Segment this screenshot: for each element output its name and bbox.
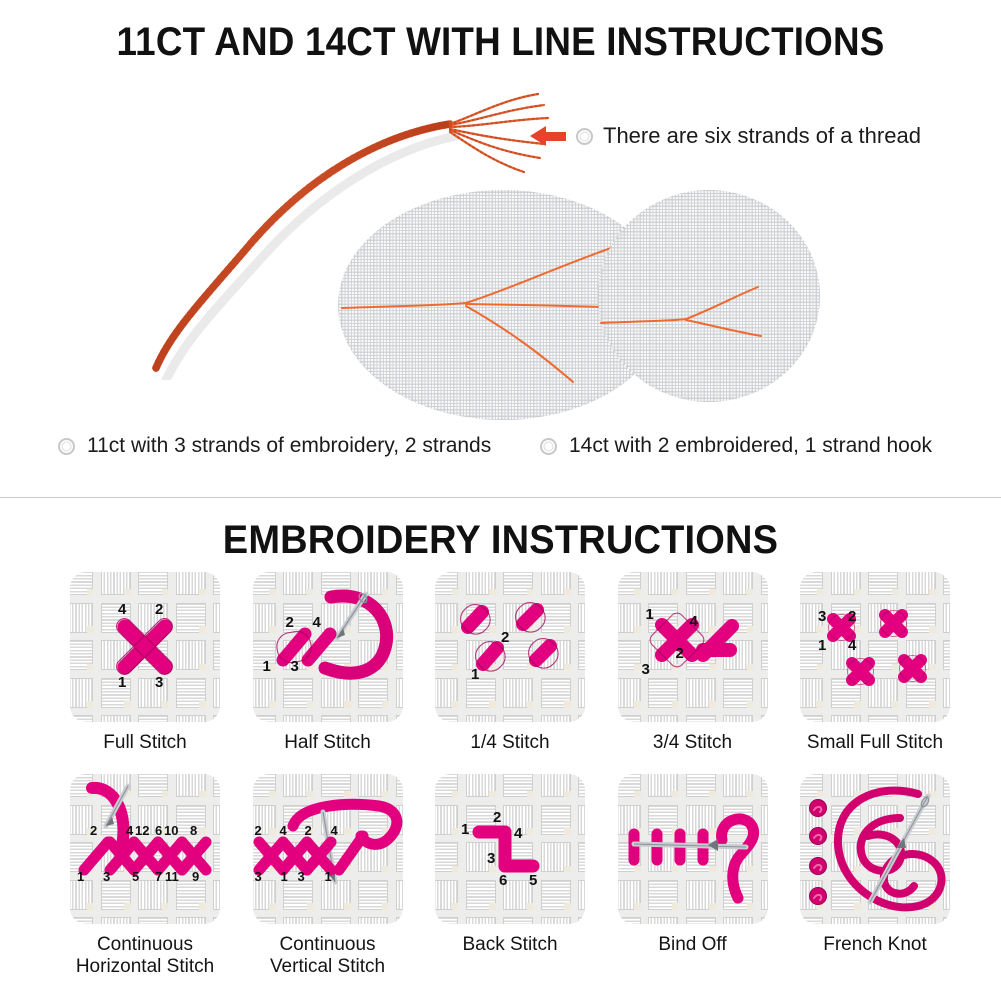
stitch-number: 2 bbox=[155, 602, 163, 617]
stitch-number: 4 bbox=[280, 824, 287, 837]
stitch-number: 9 bbox=[192, 870, 199, 883]
stitch-strokes bbox=[70, 774, 220, 924]
stitch-row-1: 4 2 1 3 Full Stitch bbox=[70, 572, 950, 754]
stitch-caption-french-knot: French Knot bbox=[780, 934, 970, 956]
stitch-diagram-continuous-horizontal-stitch: 2 4 12 6 10 8 1 3 5 7 11 9 bbox=[70, 774, 220, 924]
stitch-number: 4 bbox=[126, 824, 133, 837]
stitch-number: 1 bbox=[461, 822, 469, 837]
page-title-embroidery: EMBROIDERY INSTRUCTIONS bbox=[25, 518, 976, 563]
stitch-diagram-full-stitch: 4 2 1 3 bbox=[70, 572, 220, 722]
stitch-strokes bbox=[618, 572, 768, 722]
stitch-cell-three-quarter-stitch[interactable]: 1 4 2 3 3/4 Stitch bbox=[618, 572, 768, 754]
stitch-strokes bbox=[435, 572, 585, 722]
stitch-number: 3 bbox=[103, 870, 110, 883]
stitch-caption-bind-off: Bind Off bbox=[598, 934, 788, 956]
page-title-thread: 11CT AND 14CT WITH LINE INSTRUCTIONS bbox=[40, 20, 961, 65]
six-strands-label: There are six strands of a thread bbox=[603, 123, 921, 149]
stitch-row-2: 2 4 12 6 10 8 1 3 5 7 11 9 ContinuousHor… bbox=[70, 774, 950, 979]
stitch-number: 3 bbox=[642, 662, 650, 677]
stitch-number: 2 bbox=[90, 824, 97, 837]
stitch-cell-back-stitch[interactable]: 1 2 4 3 6 5 Back Stitch bbox=[435, 774, 585, 979]
stitch-number: 4 bbox=[331, 824, 338, 837]
stitch-caption-small-full-stitch: Small Full Stitch bbox=[788, 732, 963, 754]
stitch-number: 5 bbox=[529, 873, 537, 888]
stitch-cell-continuous-vertical-stitch[interactable]: 2 4 2 4 3 1 3 1 ContinuousVertical Stitc… bbox=[253, 774, 403, 979]
stitch-caption-three-quarter-stitch: 3/4 Stitch bbox=[605, 732, 780, 754]
stitch-caption-continuous-horizontal-stitch: ContinuousHorizontal Stitch bbox=[50, 934, 240, 979]
stitch-number: 2 bbox=[848, 609, 856, 624]
stitch-diagram-three-quarter-stitch: 1 4 2 3 bbox=[618, 572, 768, 722]
stitch-number: 4 bbox=[313, 615, 321, 630]
stitch-number: 1 bbox=[263, 659, 271, 674]
stitch-number: 1 bbox=[325, 870, 332, 883]
stitch-number: 1 bbox=[281, 870, 288, 883]
stitch-strokes bbox=[800, 774, 950, 924]
stitch-number: 7 bbox=[155, 870, 162, 883]
stitch-grid: 4 2 1 3 Full Stitch bbox=[0, 572, 1001, 992]
stitch-number: 4 bbox=[118, 602, 126, 617]
stitch-number: 4 bbox=[514, 826, 522, 841]
stitch-number: 1 bbox=[77, 870, 84, 883]
stitch-caption-full-stitch: Full Stitch bbox=[58, 732, 233, 754]
stitch-diagram-french-knot bbox=[800, 774, 950, 924]
stitch-cell-continuous-horizontal-stitch[interactable]: 2 4 12 6 10 8 1 3 5 7 11 9 ContinuousHor… bbox=[70, 774, 220, 979]
stitch-number: 1 bbox=[646, 607, 654, 622]
ring-bullet-icon bbox=[58, 438, 75, 455]
ring-bullet-icon bbox=[540, 438, 557, 455]
thread-instructions-section: 11CT AND 14CT WITH LINE INSTRUCTIONS bbox=[0, 0, 1001, 497]
stitch-number: 2 bbox=[493, 810, 501, 825]
stitch-diagram-bind-off bbox=[618, 774, 768, 924]
stitch-cell-quarter-stitch[interactable]: 2 1 1/4 Stitch bbox=[435, 572, 585, 754]
stitch-number: 2 bbox=[286, 615, 294, 630]
stitch-cell-half-stitch[interactable]: 2 4 1 3 Half Stitch bbox=[253, 572, 403, 754]
stitch-caption-back-stitch: Back Stitch bbox=[415, 934, 605, 956]
stitch-number: 3 bbox=[155, 675, 163, 690]
caption-11ct: 11ct with 3 strands of embroidery, 2 str… bbox=[58, 434, 491, 458]
stitch-number: 6 bbox=[499, 873, 507, 888]
stitch-caption-quarter-stitch: 1/4 Stitch bbox=[423, 732, 598, 754]
stitch-number: 3 bbox=[487, 851, 495, 866]
stitch-diagram-back-stitch: 1 2 4 3 6 5 bbox=[435, 774, 585, 924]
arrow-left-icon bbox=[530, 126, 566, 146]
stitch-number: 8 bbox=[190, 824, 197, 837]
stitch-cell-full-stitch[interactable]: 4 2 1 3 Full Stitch bbox=[70, 572, 220, 754]
stitch-number: 1 bbox=[471, 667, 479, 682]
stitch-number: 12 bbox=[135, 824, 149, 837]
stitch-number: 3 bbox=[298, 870, 305, 883]
stitch-number: 11 bbox=[165, 870, 179, 883]
stitch-number: 10 bbox=[164, 824, 178, 837]
caption-14ct: 14ct with 2 embroidered, 1 strand hook bbox=[540, 434, 932, 458]
stitch-number: 1 bbox=[118, 675, 126, 690]
stitch-number: 5 bbox=[132, 870, 139, 883]
stitch-number: 3 bbox=[255, 870, 262, 883]
fabric-swatch-14ct bbox=[598, 190, 820, 402]
stitch-number: 3 bbox=[291, 659, 299, 674]
ring-bullet-icon bbox=[576, 128, 593, 145]
stitch-cell-bind-off[interactable]: Bind Off bbox=[618, 774, 768, 979]
stitch-number: 1 bbox=[818, 638, 826, 653]
stitch-strokes bbox=[618, 774, 768, 924]
stitch-number: 2 bbox=[501, 630, 509, 645]
stitch-number: 3 bbox=[818, 609, 826, 624]
stitch-cell-small-full-stitch[interactable]: 3 2 1 4 Small Full Stitch bbox=[800, 572, 950, 754]
caption-14ct-label: 14ct with 2 embroidered, 1 strand hook bbox=[569, 434, 932, 458]
stitch-caption-half-stitch: Half Stitch bbox=[240, 732, 415, 754]
stitch-number: 4 bbox=[848, 638, 856, 653]
stitch-cell-french-knot[interactable]: French Knot bbox=[800, 774, 950, 979]
stitch-strokes bbox=[70, 572, 220, 722]
six-strands-annotation: There are six strands of a thread bbox=[530, 123, 921, 149]
stitch-diagram-continuous-vertical-stitch: 2 4 2 4 3 1 3 1 bbox=[253, 774, 403, 924]
stitch-diagram-quarter-stitch: 2 1 bbox=[435, 572, 585, 722]
stitch-strokes bbox=[435, 774, 585, 924]
stitch-number: 2 bbox=[676, 646, 684, 661]
stitch-number: 6 bbox=[155, 824, 162, 837]
stitch-number: 2 bbox=[305, 824, 312, 837]
stitch-strokes bbox=[253, 572, 403, 722]
stitch-caption-continuous-vertical-stitch: ContinuousVertical Stitch bbox=[233, 934, 423, 979]
stitch-number: 4 bbox=[690, 614, 698, 629]
stitch-diagram-small-full-stitch: 3 2 1 4 bbox=[800, 572, 950, 722]
section-divider bbox=[0, 497, 1001, 498]
stitch-diagram-half-stitch: 2 4 1 3 bbox=[253, 572, 403, 722]
stitch-strokes bbox=[253, 774, 403, 924]
stitch-number: 2 bbox=[255, 824, 262, 837]
caption-11ct-label: 11ct with 3 strands of embroidery, 2 str… bbox=[87, 434, 491, 458]
